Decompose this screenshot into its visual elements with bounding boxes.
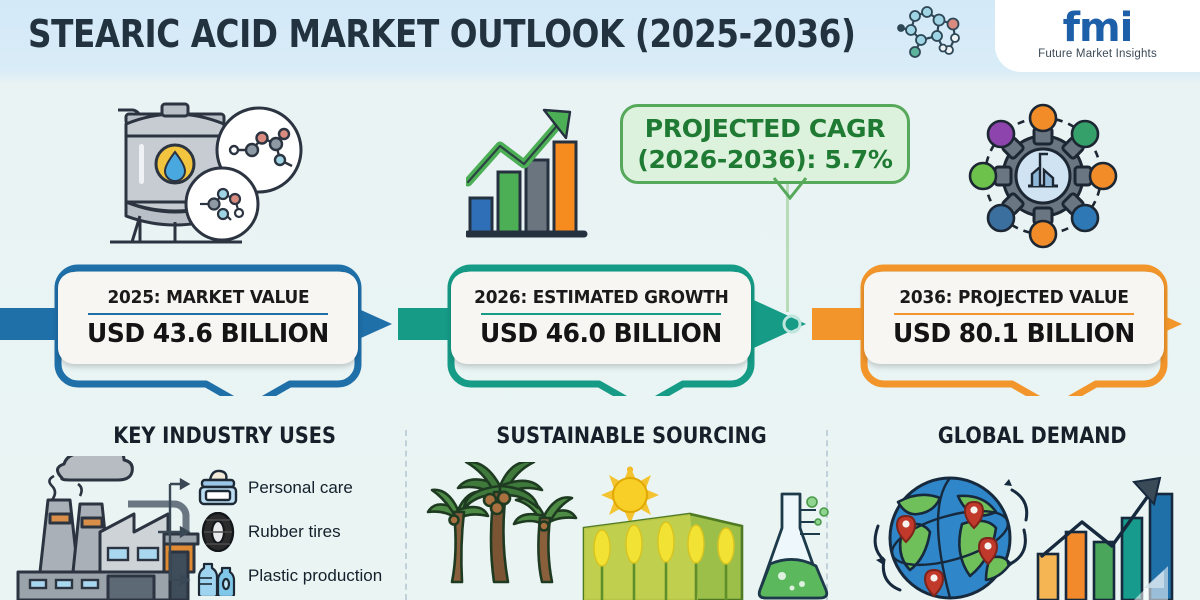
header-bar: STEARIC ACID MARKET OUTLOOK (2025-2036) (0, 0, 1200, 72)
corner-watermark (1134, 540, 1200, 600)
logo-subtitle: Future Market Insights (1038, 48, 1157, 60)
milestone-label: 2036: PROJECTED VALUE (899, 287, 1128, 308)
section-heading-key-industry-uses: KEY INDUSTRY USES (113, 424, 336, 449)
gear-network-icon (958, 100, 1128, 257)
globe-icon (862, 468, 1042, 600)
card-divider (481, 313, 721, 315)
plastic-bottles-icon (196, 556, 240, 596)
section-heading-global-demand: GLOBAL DEMAND (938, 424, 1127, 449)
cagr-line-1: PROJECTED CAGR (645, 114, 885, 143)
milestone-value: USD 46.0 BILLION (480, 319, 722, 349)
card-divider (88, 313, 328, 315)
milestone-value: USD 43.6 BILLION (87, 319, 329, 349)
crop-field-icon (578, 464, 748, 600)
logo-mark: fmi (1063, 12, 1133, 45)
storage-tank-icon (96, 92, 326, 267)
cagr-connector (786, 182, 789, 312)
molecule-icon (893, 6, 967, 66)
use-label: Rubber tires (248, 523, 341, 541)
milestone-card-2036[interactable]: 2036: PROJECTED VALUE USD 80.1 BILLION (864, 272, 1164, 364)
sun-icon (601, 466, 659, 524)
list-item[interactable]: Plastic production (196, 554, 406, 598)
uses-list: Personal care Rubber tires (196, 466, 406, 598)
uses-connector-arrows (156, 470, 200, 596)
list-item[interactable]: Personal care (196, 466, 406, 510)
use-label: Personal care (248, 479, 353, 497)
section-heading-sustainable-sourcing: SUSTAINABLE SOURCING (496, 424, 766, 449)
cagr-callout: PROJECTED CAGR (2026-2036): 5.7% (620, 104, 910, 184)
milestone-value: USD 80.1 BILLION (893, 319, 1135, 349)
milestone-card-2026[interactable]: 2026: ESTIMATED GROWTH USD 46.0 BILLION (451, 272, 751, 364)
infographic-canvas: STEARIC ACID MARKET OUTLOOK (2025-2036) (0, 0, 1200, 600)
palm-trees-icon (424, 462, 584, 600)
cream-jar-icon (196, 468, 240, 508)
milestone-label: 2025: MARKET VALUE (107, 287, 309, 308)
growth-bar-chart-icon (466, 102, 594, 255)
tire-icon (196, 512, 240, 552)
cagr-callout-tail (770, 176, 810, 200)
fmi-logo[interactable]: fmi Future Market Insights (995, 0, 1200, 72)
milestone-card-2025[interactable]: 2025: MARKET VALUE USD 43.6 BILLION (58, 272, 358, 364)
cagr-line-2: (2026-2036): 5.7% (637, 145, 892, 174)
use-label: Plastic production (248, 567, 382, 585)
card-divider (894, 313, 1134, 315)
list-item[interactable]: Rubber tires (196, 510, 406, 554)
milestone-label: 2026: ESTIMATED GROWTH (474, 287, 729, 308)
page-title: STEARIC ACID MARKET OUTLOOK (2025-2036) (28, 6, 785, 62)
flask-icon (752, 490, 838, 600)
